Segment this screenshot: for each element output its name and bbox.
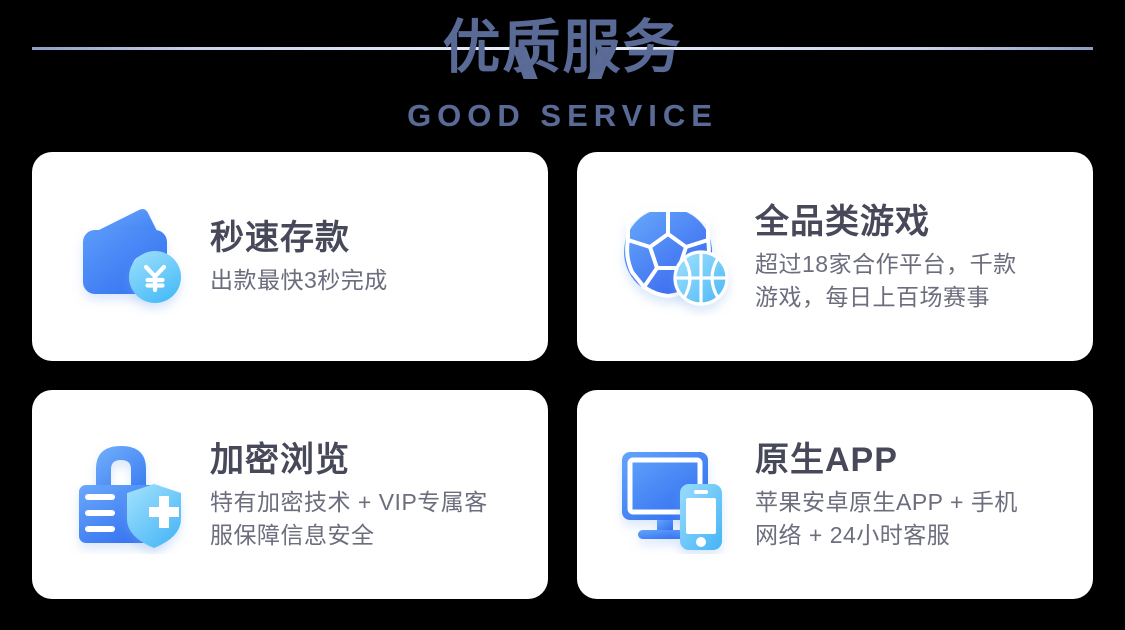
page-subtitle: GOOD SERVICE	[0, 98, 1125, 134]
card-description: 特有加密技术 + VIP专属客 服保障信息安全	[210, 486, 528, 552]
card-description: 出款最快3秒完成	[210, 264, 528, 297]
card-text-container: 全品类游戏 超过18家合作平台，千款 游戏，每日上百场赛事	[749, 200, 1073, 314]
card-description-line: 出款最快3秒完成	[210, 264, 528, 297]
card-description-line: 超过18家合作平台，千款	[755, 248, 1073, 281]
card-description-line: 服保障信息安全	[210, 519, 528, 552]
service-card-deposit[interactable]: 秒速存款 出款最快3秒完成	[32, 152, 548, 361]
lock-shield-icon	[69, 436, 189, 554]
card-icon-container	[599, 182, 749, 332]
monitor-phone-icon	[614, 436, 734, 554]
card-text-container: 加密浏览 特有加密技术 + VIP专属客 服保障信息安全	[204, 438, 528, 552]
card-icon-container	[54, 182, 204, 332]
card-icon-container	[54, 420, 204, 570]
card-icon-container	[599, 420, 749, 570]
card-title: 加密浏览	[210, 438, 528, 482]
card-title: 原生APP	[755, 438, 1073, 482]
service-card-encryption[interactable]: 加密浏览 特有加密技术 + VIP专属客 服保障信息安全	[32, 390, 548, 599]
page-header: 优质服务 GOOD SERVICE	[0, 0, 1125, 150]
wallet-yen-icon	[69, 198, 189, 316]
service-card-grid: 秒速存款 出款最快3秒完成	[32, 152, 1093, 599]
card-text-container: 秒速存款 出款最快3秒完成	[204, 216, 528, 297]
card-description-line: 游戏，每日上百场赛事	[755, 281, 1073, 314]
soccer-basketball-icon	[614, 198, 734, 316]
service-card-games[interactable]: 全品类游戏 超过18家合作平台，千款 游戏，每日上百场赛事	[577, 152, 1093, 361]
card-description: 苹果安卓原生APP + 手机 网络 + 24小时客服	[755, 486, 1073, 552]
card-title: 秒速存款	[210, 216, 528, 260]
card-text-container: 原生APP 苹果安卓原生APP + 手机 网络 + 24小时客服	[749, 438, 1073, 552]
card-title: 全品类游戏	[755, 200, 1073, 244]
card-description-line: 特有加密技术 + VIP专属客	[210, 486, 528, 519]
card-description-line: 苹果安卓原生APP + 手机	[755, 486, 1073, 519]
service-card-native-app[interactable]: 原生APP 苹果安卓原生APP + 手机 网络 + 24小时客服	[577, 390, 1093, 599]
page-title: 优质服务	[0, 8, 1125, 88]
card-description: 超过18家合作平台，千款 游戏，每日上百场赛事	[755, 248, 1073, 314]
card-description-line: 网络 + 24小时客服	[755, 519, 1073, 552]
